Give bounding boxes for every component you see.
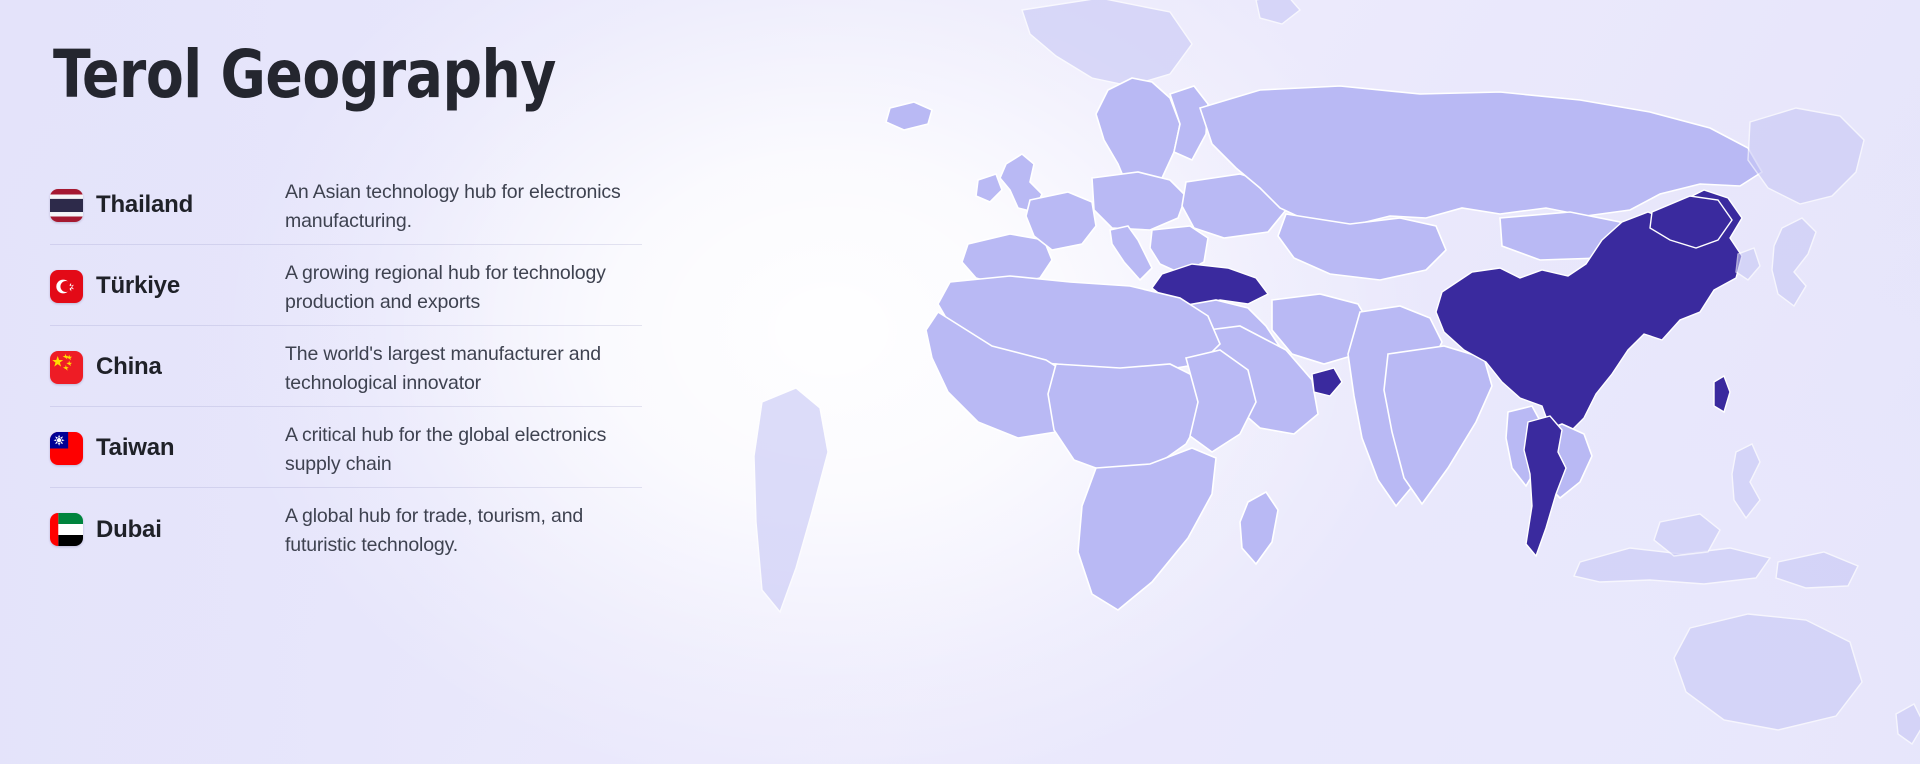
country-row-dubai[interactable]: Dubai A global hub for trade, tourism, a… (50, 488, 642, 569)
country-name: Thailand (96, 191, 193, 219)
map-region-svalbard (1256, 0, 1300, 24)
flag-china-icon (50, 351, 83, 384)
map-region-south-america-sliver (754, 388, 828, 612)
country-list: Thailand An Asian technology hub for ele… (50, 164, 642, 569)
map-region-philippines (1732, 444, 1760, 518)
map-region-southern-africa (1078, 448, 1216, 610)
map-region-uae-highlight (1312, 368, 1342, 396)
info-panel: Terol Geography Thailand An Asian techno… (0, 0, 700, 764)
map-region-australia (1674, 614, 1862, 730)
map-region-madagascar (1240, 492, 1278, 564)
flag-taiwan-icon (50, 432, 83, 465)
map-region-russia-far-east (1748, 108, 1864, 204)
map-region-ireland (976, 174, 1002, 202)
flag-uae-icon (50, 513, 83, 546)
country-identity: China (50, 326, 285, 406)
map-region-central-europe (1092, 172, 1186, 230)
map-region-italy (1110, 226, 1152, 280)
country-description: A global hub for trade, tourism, and fut… (285, 488, 642, 560)
country-row-turkiye[interactable]: Türkiye A growing regional hub for techn… (50, 245, 642, 326)
map-region-iceland (886, 102, 932, 130)
country-row-china[interactable]: China The world's largest manufacturer a… (50, 326, 642, 407)
country-name: China (96, 353, 162, 381)
country-identity: Thailand (50, 164, 285, 244)
map-region-new-guinea (1776, 552, 1858, 588)
country-description: An Asian technology hub for electronics … (285, 164, 642, 236)
country-identity: Taiwan (50, 407, 285, 487)
flag-turkiye-icon (50, 270, 83, 303)
country-identity: Dubai (50, 488, 285, 569)
map-region-central-asia (1278, 214, 1446, 280)
map-region-greenland (1022, 0, 1192, 86)
map-region-korea (1736, 248, 1760, 280)
country-row-thailand[interactable]: Thailand An Asian technology hub for ele… (50, 164, 642, 245)
map-region-borneo (1654, 514, 1720, 556)
country-name: Türkiye (96, 272, 180, 300)
country-name: Taiwan (96, 434, 174, 462)
map-region-japan (1772, 218, 1816, 306)
country-row-taiwan[interactable]: Taiwan A critical hub for the global ele… (50, 407, 642, 488)
country-description: A growing regional hub for technology pr… (285, 245, 642, 317)
map-region-thailand-highlight (1524, 416, 1566, 556)
page-title: Terol Geography (53, 42, 556, 108)
country-description: A critical hub for the global electronic… (285, 407, 642, 479)
map-region-new-zealand (1896, 704, 1920, 744)
country-name: Dubai (96, 516, 162, 544)
flag-thailand-icon (50, 189, 83, 222)
country-identity: Türkiye (50, 245, 285, 325)
country-description: The world's largest manufacturer and tec… (285, 326, 642, 398)
world-map (700, 0, 1920, 764)
map-region-taiwan-highlight (1714, 376, 1730, 412)
